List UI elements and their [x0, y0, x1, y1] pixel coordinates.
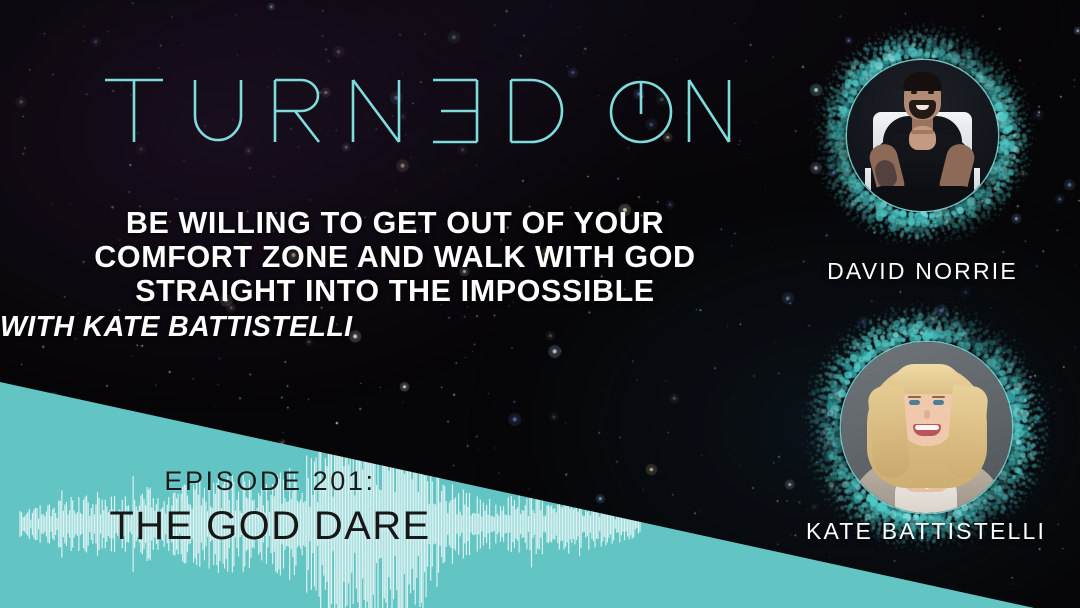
- avatar: [841, 342, 1012, 513]
- episode-title-line-2: COMFORT ZONE AND WALK WITH GOD: [0, 240, 790, 274]
- logo-letter-T: [105, 80, 163, 142]
- power-symbol-icon: [611, 82, 671, 142]
- logo-letter-D: [511, 80, 562, 142]
- avatar: [847, 60, 998, 211]
- avatar-david-norrie: [847, 60, 998, 211]
- episode-graphic-canvas: BE WILLING TO GET OUT OF YOUR COMFORT ZO…: [0, 0, 1080, 608]
- guest-card-david-norrie: DAVID NORRIE: [805, 18, 1040, 308]
- logo-letter-R: [275, 80, 319, 142]
- episode-info-block: EPISODE 201: THE GOD DARE: [0, 466, 540, 552]
- episode-title-line-1: BE WILLING TO GET OUT OF YOUR: [0, 206, 790, 240]
- guest-name-label: KATE BATTISTELLI: [795, 518, 1057, 545]
- episode-title-guest-line: WITH KATE BATTISTELLI: [0, 310, 352, 344]
- episode-name-title: THE GOD DARE: [0, 500, 540, 552]
- avatar-kate-battistelli: [841, 342, 1012, 513]
- podcast-logo: [95, 72, 735, 150]
- logo-letter-N-2: [689, 80, 729, 142]
- logo-letter-E-reversed: [433, 80, 477, 142]
- logo-letter-U: [195, 80, 241, 140]
- guest-name-label: DAVID NORRIE: [805, 258, 1040, 285]
- logo-letter-N: [353, 80, 399, 142]
- guest-card-kate-battistelli: KATE BATTISTELLI: [795, 296, 1057, 596]
- episode-title-line-3: STRAIGHT INTO THE IMPOSSIBLE: [0, 274, 790, 308]
- episode-number-label: EPISODE 201:: [0, 466, 540, 496]
- episode-title-block: BE WILLING TO GET OUT OF YOUR COMFORT ZO…: [0, 206, 790, 308]
